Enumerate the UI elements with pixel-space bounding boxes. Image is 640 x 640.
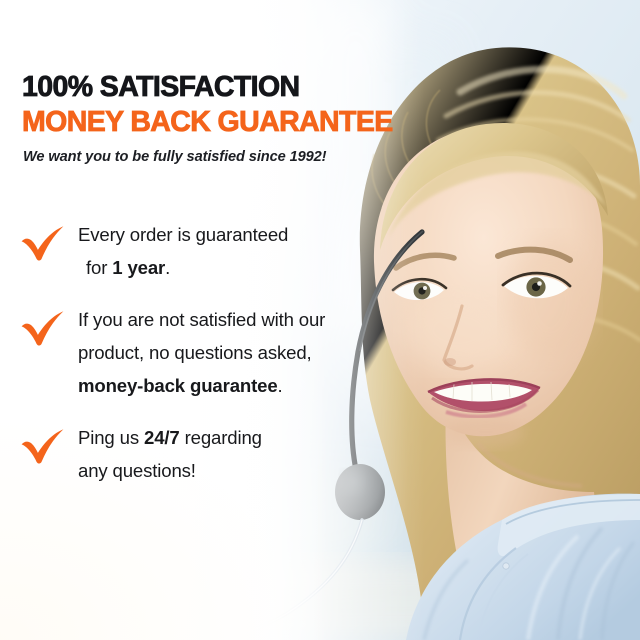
headline-line-1: 100% SATISFACTION [22, 72, 422, 104]
bullet-3-suffix: regarding [180, 427, 262, 448]
orange-checkmark-icon [20, 310, 64, 346]
subheadline: We want you to be fully satisfied since … [23, 149, 422, 165]
orange-checkmark-icon [20, 428, 64, 464]
bullet-1-suffix: . [165, 257, 170, 278]
list-item-text: If you are not satisfied with our produc… [78, 303, 420, 402]
text-content: 100% SATISFACTION MONEY BACK GUARANTEE W… [0, 0, 420, 640]
list-item: Ping us 24/7 regarding any questions! [0, 421, 420, 487]
bullet-2-suffix: . [278, 375, 283, 396]
bullet-3-prefix: Ping us [78, 427, 144, 448]
bullet-1-prefix: for [86, 257, 112, 278]
list-item-text: Every order is guaranteed for 1 year. [78, 218, 420, 284]
bullet-2-line-1: If you are not satisfied with our [78, 303, 420, 336]
list-item-text: Ping us 24/7 regarding any questions! [78, 421, 420, 487]
headline-line-2: MONEY BACK GUARANTEE [22, 107, 422, 139]
list-item: Every order is guaranteed for 1 year. [0, 218, 420, 284]
bullet-1-line-2: for 1 year. [78, 251, 420, 284]
bullet-2-line-3: money-back guarantee. [78, 369, 420, 402]
bullet-2-line-2: product, no questions asked, [78, 336, 420, 369]
orange-checkmark-icon [20, 225, 64, 261]
headline-block: 100% SATISFACTION MONEY BACK GUARANTEE W… [22, 72, 422, 165]
guarantee-bullet-list: Every order is guaranteed for 1 year. If… [0, 218, 420, 506]
bullet-1-emphasis: 1 year [112, 257, 165, 278]
bullet-3-line-2: any questions! [78, 454, 420, 487]
guarantee-banner: 100% SATISFACTION MONEY BACK GUARANTEE W… [0, 0, 640, 640]
bullet-3-line-1: Ping us 24/7 regarding [78, 421, 420, 454]
bullet-1-line-1: Every order is guaranteed [78, 218, 420, 251]
bullet-2-emphasis: money-back guarantee [78, 375, 278, 396]
list-item: If you are not satisfied with our produc… [0, 303, 420, 402]
bullet-3-emphasis: 24/7 [144, 427, 180, 448]
